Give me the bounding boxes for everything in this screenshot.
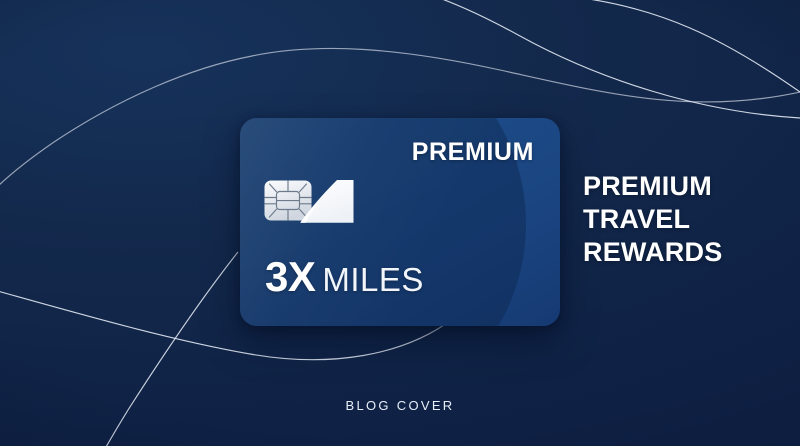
- headline: PREMIUM TRAVEL REWARDS: [583, 170, 722, 269]
- card-rate-unit: MILES: [322, 261, 424, 298]
- card-brand-label: PREMIUM: [412, 140, 534, 165]
- headline-line-1: PREMIUM: [583, 170, 722, 203]
- curve-bottom-diagonal: [98, 252, 238, 446]
- blog-cover-canvas: PREMIUM: [0, 0, 800, 446]
- emv-chip-icon: [265, 181, 312, 221]
- headline-line-2: TRAVEL: [583, 203, 722, 236]
- credit-card[interactable]: PREMIUM: [240, 118, 560, 326]
- card-rate-group: 3XMILES: [265, 256, 424, 298]
- headline-line-3: REWARDS: [583, 236, 722, 269]
- card-logo-group: [263, 176, 378, 234]
- footer-caption: BLOG COVER: [0, 398, 800, 413]
- curve-top-right-arc: [566, 0, 800, 92]
- card-rate-multiplier: 3X: [265, 253, 315, 300]
